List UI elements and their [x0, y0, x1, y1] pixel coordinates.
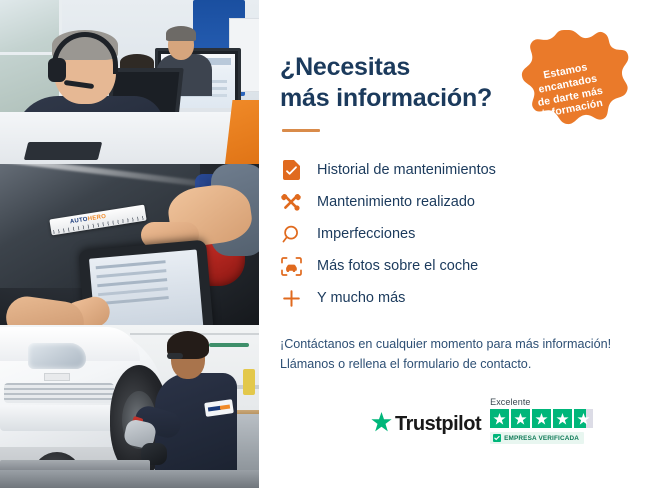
support-promise-badge: Estamos encantados de darte más informac… [507, 28, 631, 152]
rating-star-2 [511, 409, 530, 428]
verified-business-badge: EMPRESA VERIFICADA [490, 432, 584, 444]
maintenance-history-icon [280, 159, 302, 181]
feature-item-much-more: Y mucho más [280, 282, 626, 314]
trustpilot-star-icon [371, 412, 392, 437]
contact-paragraph: ¡Contáctanos en cualquier momento para m… [280, 334, 626, 375]
trustpilot-score: Excelente [490, 397, 593, 444]
feature-label: Historial de mantenimientos [317, 162, 496, 178]
feature-label: Mantenimiento realizado [317, 194, 475, 210]
photo-column: AUTOHERO [0, 0, 259, 488]
feature-item-imperfections: Imperfecciones [280, 218, 626, 250]
trustpilot-rating-block[interactable]: Trustpilot Excelente [371, 397, 593, 444]
contact-paragraph-line-1: ¡Contáctanos en cualquier momento para m… [280, 337, 611, 351]
verified-business-label: EMPRESA VERIFICADA [504, 435, 579, 442]
page-title-line-2: más información? [280, 84, 492, 112]
call-center-agent-headset-photo [0, 0, 259, 164]
starburst-shape-icon [507, 28, 631, 152]
feature-item-maintenance-done: Mantenimiento realizado [280, 186, 626, 218]
title-underline-rule [282, 129, 320, 132]
car-scan-icon [280, 255, 302, 277]
mechanic-wheel-inspection-photo [0, 325, 259, 488]
feature-list: Historial de mantenimientos Mantenimient… [280, 154, 626, 314]
trustpilot-brand-text: Trustpilot [395, 413, 481, 436]
rating-star-5-partial [574, 409, 593, 428]
plus-icon [280, 287, 302, 309]
car-inspection-ruler-tablet-photo: AUTOHERO [0, 164, 259, 325]
page-title-line-1: ¿Necesitas [280, 53, 410, 81]
trustpilot-logo[interactable]: Trustpilot [371, 412, 481, 437]
feature-label: Y mucho más [317, 290, 405, 306]
trustpilot-star-rating [490, 409, 593, 428]
magnifier-icon [280, 223, 302, 245]
check-icon [493, 434, 501, 442]
rating-star-3 [532, 409, 551, 428]
trustpilot-rating-label: Excelente [490, 397, 530, 407]
content-panel: ¿Necesitas más información? Estamos [259, 0, 650, 488]
feature-item-maintenance-history: Historial de mantenimientos [280, 154, 626, 186]
feature-label: Imperfecciones [317, 226, 415, 242]
feature-item-more-photos: Más fotos sobre el coche [280, 250, 626, 282]
feature-label: Más fotos sobre el coche [317, 258, 478, 274]
information-request-banner: AUTOHERO [0, 0, 650, 488]
rating-star-4 [553, 409, 572, 428]
wrench-screwdriver-icon [280, 191, 302, 213]
page-title: ¿Necesitas más información? [280, 52, 510, 113]
contact-paragraph-line-2: Llámanos o rellena el formulario de cont… [280, 357, 531, 371]
rating-star-1 [490, 409, 509, 428]
